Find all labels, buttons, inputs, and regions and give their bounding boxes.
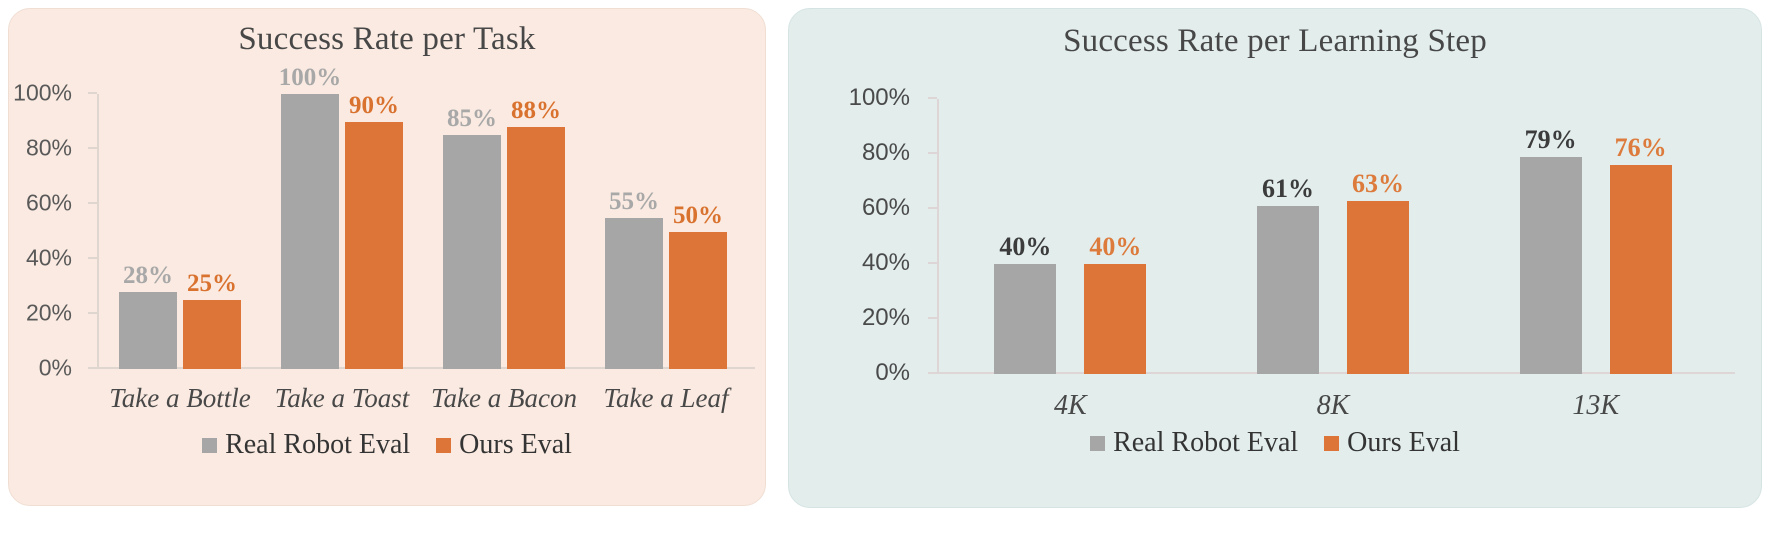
bar-slot: 55% (605, 94, 663, 369)
y-axis-tick: 0% (928, 372, 937, 374)
bar-real-robot-eval[interactable]: 40% (994, 264, 1056, 374)
bar-value-label: 63% (1352, 171, 1404, 197)
legend-swatch-gray-icon (202, 438, 217, 453)
bar-real-robot-eval[interactable]: 28% (119, 292, 177, 369)
y-axis-tick: 80% (88, 147, 97, 149)
bar-slot: 85% (443, 94, 501, 369)
chart-title-task: Success Rate per Task (9, 21, 765, 58)
category-label: 13K (1572, 390, 1619, 422)
bar-slot: 79% (1520, 99, 1582, 374)
y-axis-tick: 40% (928, 262, 937, 264)
bar-value-label: 50% (673, 203, 723, 228)
y-axis-tick: 100% (88, 92, 97, 94)
bar-group: 28%25%Take a Bottle (99, 94, 261, 369)
y-axis-tick-label: 80% (862, 139, 910, 167)
bar-value-label: 76% (1615, 135, 1667, 161)
category-label: 4K (1054, 390, 1087, 422)
bar-slot: 90% (345, 94, 403, 369)
category-label: Take a Bottle (109, 383, 251, 414)
bar-ours-eval[interactable]: 63% (1347, 201, 1409, 374)
bar-ours-eval[interactable]: 90% (345, 122, 403, 370)
bar-value-label: 90% (349, 93, 399, 118)
bar-value-label: 25% (187, 271, 237, 296)
category-label: Take a Leaf (603, 383, 728, 414)
bar-real-robot-eval[interactable]: 55% (605, 218, 663, 369)
bar-slot: 40% (1084, 99, 1146, 374)
bar-group: 100%90%Take a Toast (261, 94, 423, 369)
legend-task: Real Robot Eval Ours Eval (9, 429, 765, 461)
bar-slot: 100% (281, 94, 339, 369)
y-axis-tick-label: 0% (875, 359, 910, 387)
bar-real-robot-eval[interactable]: 85% (443, 135, 501, 369)
category-label: 8K (1317, 390, 1350, 422)
y-axis-tick: 40% (88, 257, 97, 259)
bar-value-label: 40% (1089, 234, 1141, 260)
category-label: Take a Toast (275, 383, 410, 414)
y-axis-tick: 0% (88, 367, 97, 369)
bar-groups-task: 28%25%Take a Bottle100%90%Take a Toast85… (99, 94, 747, 369)
bar-slot: 50% (669, 94, 727, 369)
figure-container: Success Rate per Task 0%20%40%60%80%100%… (0, 0, 1774, 550)
bar-groups-learning-step: 40%40%4K61%63%8K79%76%13K (939, 99, 1727, 374)
bar-real-robot-eval[interactable]: 79% (1520, 157, 1582, 374)
legend-label-real-robot-eval: Real Robot Eval (1113, 427, 1298, 459)
y-axis-tick: 80% (928, 152, 937, 154)
y-axis-tick-label: 20% (862, 304, 910, 332)
bar-slot: 28% (119, 94, 177, 369)
bar-ours-eval[interactable]: 88% (507, 127, 565, 369)
y-axis-tick-label: 100% (849, 84, 910, 112)
y-axis-tick-label: 60% (862, 194, 910, 222)
bar-slot: 40% (994, 99, 1056, 374)
bar-group: 61%63%8K (1202, 99, 1465, 374)
bar-value-label: 61% (1262, 176, 1314, 202)
legend-swatch-orange-icon (436, 438, 451, 453)
bar-group: 40%40%4K (939, 99, 1202, 374)
y-axis-tick: 20% (88, 312, 97, 314)
bar-group: 55%50%Take a Leaf (585, 94, 747, 369)
bar-value-label: 28% (123, 263, 173, 288)
bar-group: 79%76%13K (1464, 99, 1727, 374)
bar-ours-eval[interactable]: 25% (183, 300, 241, 369)
y-axis-tick: 60% (928, 207, 937, 209)
plot-area-task: 0%20%40%60%80%100% 28%25%Take a Bottle10… (97, 94, 747, 369)
legend-item-real-robot-eval[interactable]: Real Robot Eval (1090, 427, 1298, 459)
bar-value-label: 79% (1525, 127, 1577, 153)
bar-ours-eval[interactable]: 40% (1084, 264, 1146, 374)
legend-item-real-robot-eval[interactable]: Real Robot Eval (202, 429, 410, 461)
bar-slot: 25% (183, 94, 241, 369)
category-label: Take a Bacon (431, 383, 577, 414)
y-axis-tick-label: 60% (26, 190, 72, 217)
bar-value-label: 100% (279, 65, 342, 90)
bar-real-robot-eval[interactable]: 100% (281, 94, 339, 369)
y-axis-tick-label: 40% (862, 249, 910, 277)
bar-real-robot-eval[interactable]: 61% (1257, 206, 1319, 374)
legend-item-ours-eval[interactable]: Ours Eval (436, 429, 572, 461)
bar-ours-eval[interactable]: 76% (1610, 165, 1672, 374)
bar-value-label: 40% (999, 234, 1051, 260)
y-axis-tick-label: 100% (13, 80, 72, 107)
bar-group: 85%88%Take a Bacon (423, 94, 585, 369)
legend-swatch-gray-icon (1090, 436, 1105, 451)
bar-slot: 61% (1257, 99, 1319, 374)
legend-label-ours-eval: Ours Eval (459, 429, 572, 461)
bar-value-label: 55% (609, 189, 659, 214)
bar-value-label: 88% (511, 98, 561, 123)
legend-label-real-robot-eval: Real Robot Eval (225, 429, 410, 461)
legend-learning-step: Real Robot Eval Ours Eval (789, 427, 1761, 459)
plot-area-learning-step: 0%20%40%60%80%100% 40%40%4K61%63%8K79%76… (937, 99, 1727, 374)
legend-label-ours-eval: Ours Eval (1347, 427, 1460, 459)
y-axis-tick: 100% (928, 97, 937, 99)
bar-ours-eval[interactable]: 50% (669, 232, 727, 370)
bar-slot: 88% (507, 94, 565, 369)
y-axis-tick-label: 0% (39, 355, 72, 382)
legend-item-ours-eval[interactable]: Ours Eval (1324, 427, 1460, 459)
bar-slot: 63% (1347, 99, 1409, 374)
chart-panel-task: Success Rate per Task 0%20%40%60%80%100%… (8, 8, 766, 506)
legend-swatch-orange-icon (1324, 436, 1339, 451)
y-axis-tick-label: 80% (26, 135, 72, 162)
bar-slot: 76% (1610, 99, 1672, 374)
y-axis-tick-label: 40% (26, 245, 72, 272)
chart-panel-learning-step: Success Rate per Learning Step 0%20%40%6… (788, 8, 1762, 508)
y-axis-tick: 20% (928, 317, 937, 319)
chart-title-learning-step: Success Rate per Learning Step (789, 23, 1761, 60)
bar-value-label: 85% (447, 106, 497, 131)
y-axis-tick: 60% (88, 202, 97, 204)
y-axis-tick-label: 20% (26, 300, 72, 327)
